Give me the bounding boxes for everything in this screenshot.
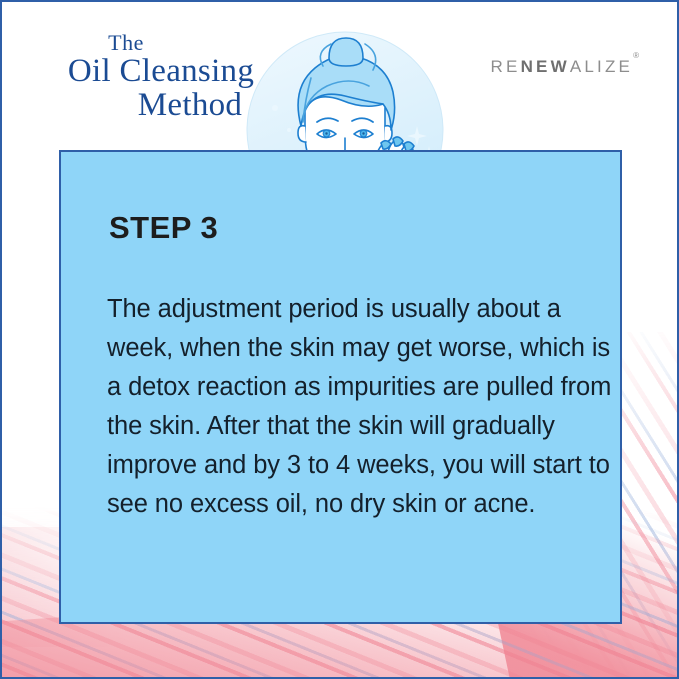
- brand-bold-segment: NEW: [521, 57, 570, 76]
- brand-suffix: ALIZE: [570, 57, 633, 76]
- oil-cleansing-method-logo: The Oil Cleansing Method: [46, 32, 276, 122]
- renewalize-brand-wordmark: RENEWALIZE®: [491, 57, 639, 77]
- brand-prefix: RE: [491, 57, 521, 76]
- logo-line-the: The: [0, 32, 276, 54]
- step-body-text: The adjustment period is usually about a…: [107, 290, 612, 524]
- infographic-page: The Oil Cleansing Method RENEWALIZE®: [0, 0, 679, 679]
- step-heading: STEP 3: [109, 210, 218, 246]
- logo-line-oil-cleansing: Oil Cleansing: [46, 55, 276, 88]
- step-content-card: STEP 3 The adjustment period is usually …: [59, 150, 622, 624]
- registered-trademark-icon: ®: [633, 51, 639, 60]
